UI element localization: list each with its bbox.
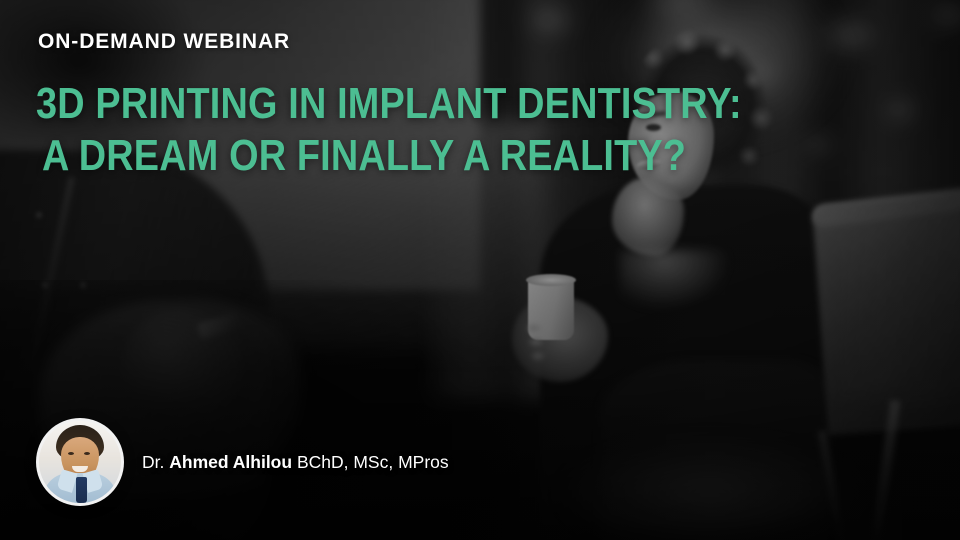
headline-line-2: A DREAM OR FINALLY A REALITY? — [36, 130, 638, 182]
speaker-name-line: Dr. Ahmed Alhilou BChD, MSc, MPros — [142, 452, 449, 473]
avatar-tie — [76, 477, 87, 503]
page-title: 3D PRINTING IN IMPLANT DENTISTRY: A DREA… — [36, 78, 736, 182]
avatar-portrait — [39, 421, 121, 503]
banner-content: ON-DEMAND WEBINAR 3D PRINTING IN IMPLANT… — [0, 0, 960, 540]
headline-line-1: 3D PRINTING IN IMPLANT DENTISTRY: — [36, 78, 638, 130]
speaker-name: Ahmed Alhilou — [169, 452, 292, 472]
speaker-title-prefix: Dr. — [142, 452, 164, 472]
avatar-eye — [68, 452, 74, 455]
avatar — [36, 418, 124, 506]
speaker-credentials: BChD, MSc, MPros — [297, 452, 449, 472]
webinar-banner: ON-DEMAND WEBINAR 3D PRINTING IN IMPLANT… — [0, 0, 960, 540]
eyebrow-label: ON-DEMAND WEBINAR — [38, 30, 290, 53]
speaker-byline: Dr. Ahmed Alhilou BChD, MSc, MPros — [36, 418, 449, 506]
avatar-eye — [84, 452, 90, 455]
